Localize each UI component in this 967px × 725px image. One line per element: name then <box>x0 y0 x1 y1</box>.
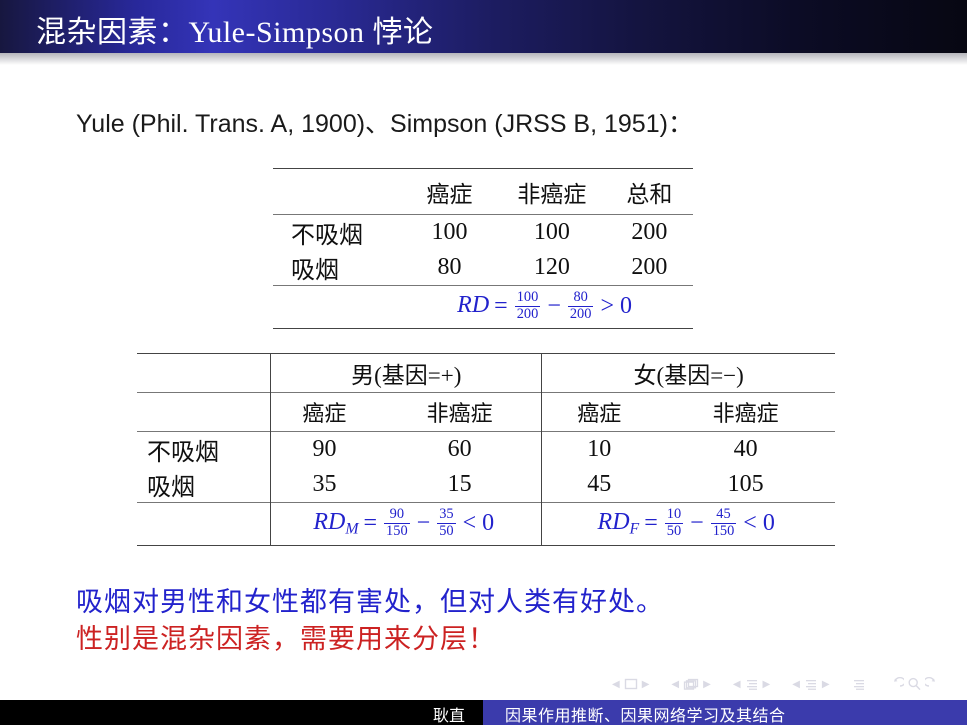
table2-subheader-row: 癌症 非癌症 癌症 非癌症 <box>137 393 835 432</box>
formula-fraction-2: 80200 <box>568 290 594 321</box>
table2-row0-female-noncancer: 40 <box>656 432 835 468</box>
search-icon[interactable] <box>907 677 922 691</box>
footer-author: 耿直 <box>433 702 465 725</box>
formula-comparison: > 0 <box>600 293 632 319</box>
footer-author-section: 耿直 <box>0 700 483 725</box>
table2-group-header-row: 男(基因=+) 女(基因=−) <box>137 354 835 393</box>
chevron-left-icon[interactable]: ◀ <box>671 679 679 690</box>
table1-row0-cancer: 100 <box>401 215 498 251</box>
fraction-numerator: 45 <box>711 507 737 522</box>
reference-line: Yule (Phil. Trans. A, 1900)、Simpson (JRS… <box>76 104 693 140</box>
fraction-numerator: 35 <box>437 507 455 522</box>
fraction-denominator: 150 <box>384 523 410 539</box>
table2-formula-row: RDM=90150−3550< 0 RDF=1050−45150< 0 <box>137 503 835 546</box>
table2-sub-blank <box>137 393 271 432</box>
footer-subject: 因果作用推断、因果网络学习及其结合 <box>505 702 786 725</box>
table2-formula-female-cell: RDF=1050−45150< 0 <box>542 503 835 546</box>
chevron-right-icon[interactable]: ▶ <box>642 679 650 690</box>
formula-lhs: RD <box>313 510 345 536</box>
chevron-right-icon[interactable]: ▶ <box>703 679 711 690</box>
table2-row0-male-cancer: 90 <box>271 432 378 468</box>
chevron-left-icon[interactable]: ◀ <box>612 679 620 690</box>
table2-sub-female-noncancer: 非癌症 <box>656 393 835 432</box>
formula-fraction-2: 45150 <box>711 507 737 538</box>
table1-row1-noncancer: 120 <box>498 250 606 286</box>
table2-row1-female-cancer: 45 <box>542 467 656 503</box>
table1-formula-row: RD=100200−80200> 0 <box>273 286 693 329</box>
formula-comparison: < 0 <box>743 510 775 536</box>
forward-icon[interactable] <box>925 677 941 691</box>
frames-icon[interactable] <box>683 678 699 691</box>
fraction-numerator: 100 <box>515 290 541 305</box>
fraction-denominator: 50 <box>665 523 683 539</box>
fraction-numerator: 80 <box>568 290 594 305</box>
title-bar-shadow <box>0 53 967 65</box>
conclusion-line-red: 性别是混杂因素，需要用来分层！ <box>76 617 496 656</box>
table1-formula-cell: RD=100200−80200> 0 <box>401 286 693 329</box>
nav-subsection-group[interactable]: ◀ ▶ <box>733 678 770 691</box>
table1-row0-total: 200 <box>606 215 693 251</box>
fraction-denominator: 200 <box>568 306 594 322</box>
formula-equals: = <box>494 293 508 319</box>
formula-minus: − <box>547 293 561 319</box>
table-header-row: 癌症 非癌症 总和 <box>273 169 693 215</box>
table1-row1-cancer: 80 <box>401 250 498 286</box>
navigation-symbols: ◀ ▶ ◀ ▶ ◀ <box>612 673 957 695</box>
table1-formula-blank <box>273 286 401 329</box>
table1-header-blank <box>273 169 401 215</box>
risk-difference-formula: RD=100200−80200> 0 <box>457 291 637 322</box>
table2-row1-female-noncancer: 105 <box>656 467 835 503</box>
table1-row0-label: 不吸烟 <box>273 215 401 251</box>
table2-formula-male-cell: RDM=90150−3550< 0 <box>271 503 542 546</box>
slide-canvas: 混杂因素：Yule-Simpson 悖论 Yule (Phil. Trans. … <box>0 0 967 725</box>
formula-minus: − <box>690 510 704 536</box>
table2-group-blank <box>137 354 271 393</box>
table2-row0-label: 不吸烟 <box>137 432 271 468</box>
formula-fraction-1: 100200 <box>515 290 541 321</box>
formula-fraction-1: 1050 <box>665 507 683 538</box>
nav-frame-group[interactable]: ◀ ▶ <box>671 678 710 691</box>
nav-slide-group[interactable]: ◀ ▶ <box>612 678 649 690</box>
fraction-numerator: 90 <box>384 507 410 522</box>
table2-formula-blank <box>137 503 271 546</box>
fraction-denominator: 50 <box>437 523 455 539</box>
table1-header-noncancer: 非癌症 <box>498 169 606 215</box>
table-row: 吸烟 80 120 200 <box>273 250 693 286</box>
risk-difference-female-formula: RDF=1050−45150< 0 <box>598 508 780 539</box>
formula-equals: = <box>364 510 378 536</box>
table2-sub-male-noncancer: 非癌症 <box>378 393 542 432</box>
fraction-denominator: 200 <box>515 306 541 322</box>
marginal-contingency-table: 癌症 非癌症 总和 不吸烟 100 100 200 吸烟 80 120 200 … <box>273 168 693 329</box>
risk-difference-male-formula: RDM=90150−3550< 0 <box>313 508 499 539</box>
chevron-left-icon[interactable]: ◀ <box>792 679 800 690</box>
slide-title-bar: 混杂因素：Yule-Simpson 悖论 <box>0 0 967 53</box>
back-icon[interactable] <box>888 677 904 691</box>
formula-fraction-2: 3550 <box>437 507 455 538</box>
table2-row1-male-cancer: 35 <box>271 467 378 503</box>
table2-row0-male-noncancer: 60 <box>378 432 542 468</box>
formula-subscript: M <box>345 521 358 538</box>
fraction-numerator: 10 <box>665 507 683 522</box>
formula-comparison: < 0 <box>463 510 495 536</box>
chevron-right-icon[interactable]: ▶ <box>822 679 830 690</box>
table-row: 不吸烟 100 100 200 <box>273 215 693 251</box>
table1-row0-noncancer: 100 <box>498 215 606 251</box>
formula-subscript: F <box>630 521 640 538</box>
table1-header-cancer: 癌症 <box>401 169 498 215</box>
section-icon[interactable] <box>804 678 818 691</box>
table1-row1-label: 吸烟 <box>273 250 401 286</box>
table2-group-female: 女(基因=−) <box>542 354 835 393</box>
page-title: 混杂因素：Yule-Simpson 悖论 <box>36 7 434 51</box>
stratified-contingency-table: 男(基因=+) 女(基因=−) 癌症 非癌症 癌症 非癌症 不吸烟 90 60 … <box>137 353 835 546</box>
document-icon[interactable] <box>852 678 866 691</box>
table2-row1-label: 吸烟 <box>137 467 271 503</box>
footer-subject-section: 因果作用推断、因果网络学习及其结合 <box>483 700 967 725</box>
fraction-denominator: 150 <box>711 523 737 539</box>
subsection-icon[interactable] <box>745 678 759 691</box>
formula-lhs: RD <box>457 293 489 319</box>
slide-icon[interactable] <box>624 678 638 690</box>
conclusion-line-blue: 吸烟对男性和女性都有害处，但对人类有好处。 <box>76 580 664 619</box>
table-row: 不吸烟 90 60 10 40 <box>137 432 835 468</box>
chevron-right-icon[interactable]: ▶ <box>763 679 771 690</box>
table2-sub-male-cancer: 癌症 <box>271 393 378 432</box>
table1-row1-total: 200 <box>606 250 693 286</box>
formula-equals: = <box>644 510 658 536</box>
nav-section-group[interactable]: ◀ ▶ <box>792 678 829 691</box>
chevron-left-icon[interactable]: ◀ <box>733 679 741 690</box>
formula-fraction-1: 90150 <box>384 507 410 538</box>
table2-row1-male-noncancer: 15 <box>378 467 542 503</box>
formula-lhs: RD <box>598 510 630 536</box>
table2-sub-female-cancer: 癌症 <box>542 393 656 432</box>
formula-minus: − <box>417 510 431 536</box>
table2-group-male: 男(基因=+) <box>271 354 542 393</box>
table2-row0-female-cancer: 10 <box>542 432 656 468</box>
table1-header-total: 总和 <box>606 169 693 215</box>
table-row: 吸烟 35 15 45 105 <box>137 467 835 503</box>
